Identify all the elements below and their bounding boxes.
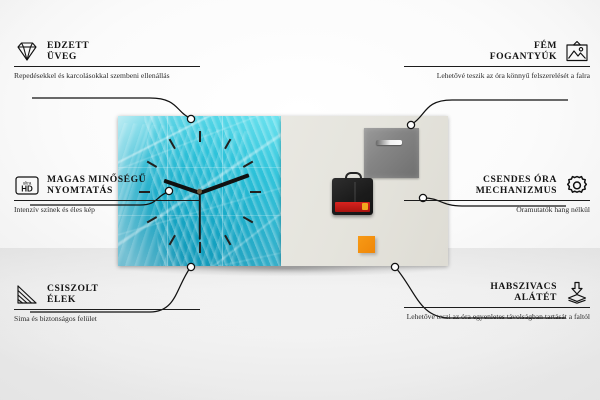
feature-description: Óramutatók hang nélkül xyxy=(404,205,590,215)
feature-title-line1: HABSZIVACS xyxy=(490,282,557,293)
feature-title-line2: ALÁTÉT xyxy=(490,293,557,304)
foam-pad xyxy=(358,236,375,253)
diamond-icon xyxy=(14,40,40,63)
feature-description: Repedésekkel és karcolásokkal szembeni e… xyxy=(14,71,200,81)
connector-glass xyxy=(32,98,190,118)
feature-title-line2: FOGANTYÚK xyxy=(490,52,557,63)
battery-label xyxy=(335,202,370,212)
feature-description: Intenzív színek és éles kép xyxy=(14,205,200,215)
metal-hanger-icon xyxy=(364,128,419,178)
feature-description: Sima és biztonságos felület xyxy=(14,314,200,324)
feature-silent-mechanism: CSENDES ÓRA MECHANIZMUS Óramutatók hang … xyxy=(404,174,590,215)
feature-title-line1: EDZETT xyxy=(47,41,89,52)
feature-divider xyxy=(14,66,200,67)
feature-divider xyxy=(404,307,590,308)
picture-frame-hanger-icon xyxy=(564,40,590,63)
feature-high-quality-print: ultra HD MAGAS MINŐSÉGŰ NYOMTATÁS Intenz… xyxy=(14,174,200,215)
feature-foam-pad: HABSZIVACS ALÁTÉT Lehetővé teszi az óra … xyxy=(404,281,590,322)
gear-icon xyxy=(564,174,590,197)
feature-title-line2: ÜVEG xyxy=(47,52,89,63)
feature-tempered-glass: EDZETT ÜVEG Repedésekkel és karcolásokka… xyxy=(14,40,200,81)
clock-mechanism xyxy=(332,178,373,215)
polished-edge-icon xyxy=(14,283,40,306)
feature-title-line1: FÉM xyxy=(490,41,557,52)
feature-divider xyxy=(404,200,590,201)
feature-description: Lehetővé teszi az óra egyenletes távolsá… xyxy=(404,312,590,322)
feature-divider xyxy=(14,200,200,201)
feature-divider xyxy=(14,309,200,310)
feature-polished-edges: CSISZOLT ÉLEK Sima és biztonságos felüle… xyxy=(14,283,200,324)
feature-divider xyxy=(404,66,590,67)
feature-metal-hangers: FÉM FOGANTYÚK Lehetővé teszik az óra kön… xyxy=(404,40,590,81)
feature-title-line1: MAGAS MINŐSÉGŰ xyxy=(47,175,146,186)
feature-title-line2: NYOMTATÁS xyxy=(47,186,146,197)
feature-title-line2: MECHANIZMUS xyxy=(476,186,557,197)
feature-title-line1: CSISZOLT xyxy=(47,284,99,295)
svg-text:HD: HD xyxy=(21,185,33,194)
feature-description: Lehetővé teszik az óra könnyű felszerelé… xyxy=(404,71,590,81)
feature-title-line2: ÉLEK xyxy=(47,295,99,306)
feature-title-line1: CSENDES ÓRA xyxy=(476,175,557,186)
foam-layers-arrow-icon xyxy=(564,281,590,304)
ultra-hd-icon: ultra HD xyxy=(14,174,40,197)
